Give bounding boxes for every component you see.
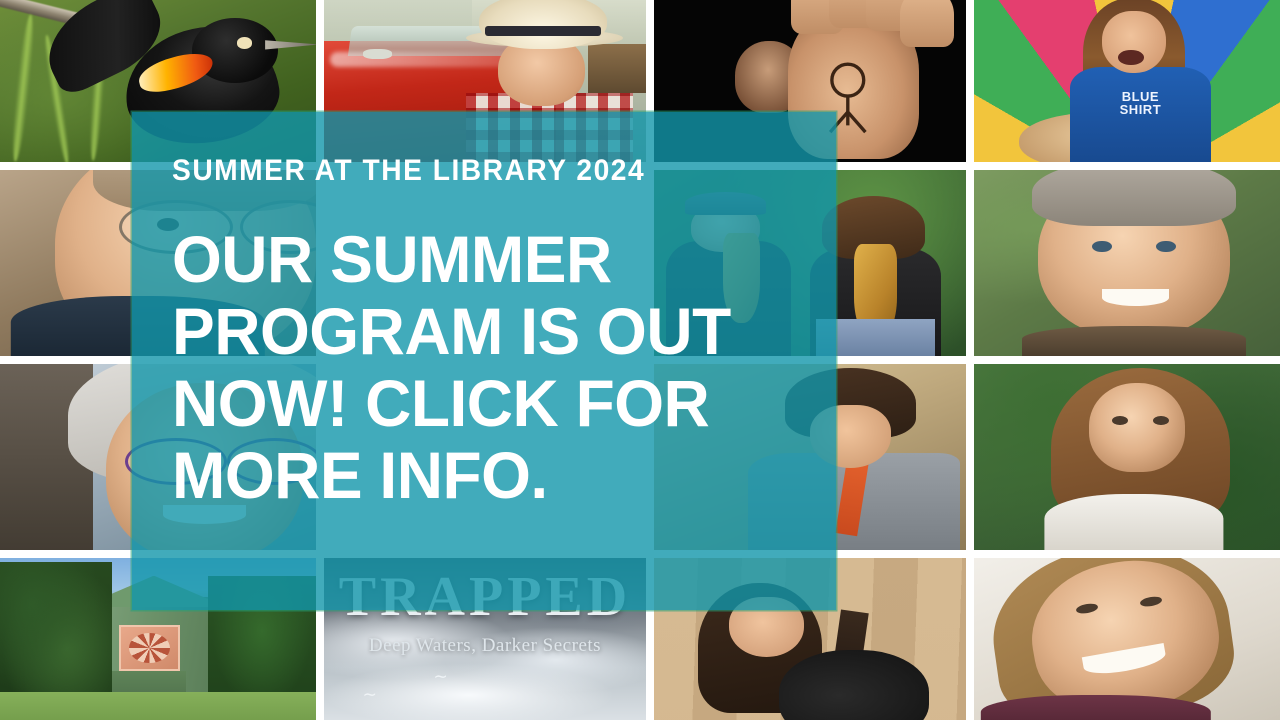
performer-shirt-text: BLUE SHIRT [1096, 90, 1186, 117]
photo-parachute-performer: BLUE SHIRT Long-haired performer in a bl… [974, 0, 1280, 162]
promo-overlay-panel[interactable]: SUMMER AT THE LIBRARY 2024 OUR SUMMER PR… [132, 112, 836, 610]
photo-smiling-man-headshot: Smiling man headshot with blurred green … [974, 170, 1280, 356]
promo-eyebrow-text: SUMMER AT THE LIBRARY 2024 [172, 156, 762, 186]
photo-woman-long-hair-portrait: Woman with long wavy hair in a white top… [974, 364, 1280, 550]
seagull-icon: ∼ [363, 685, 377, 705]
seagull-icon: ∼ [433, 667, 447, 687]
photo-laughing-woman: Laughing woman looking upward in bright … [974, 558, 1280, 720]
promo-headline-text: OUR SUMMER PROGRAM IS OUT NOW! CLICK FOR… [172, 224, 781, 512]
summer-library-promo-banner[interactable]: Red-winged blackbird perched among green… [0, 0, 1280, 720]
book-cover-subtitle: Deep Waters, Darker Secrets [324, 635, 646, 657]
barn-quilt-star-icon [119, 625, 180, 671]
shirt-line-2: SHIRT [1096, 103, 1186, 117]
shirt-line-1: BLUE [1096, 90, 1186, 104]
